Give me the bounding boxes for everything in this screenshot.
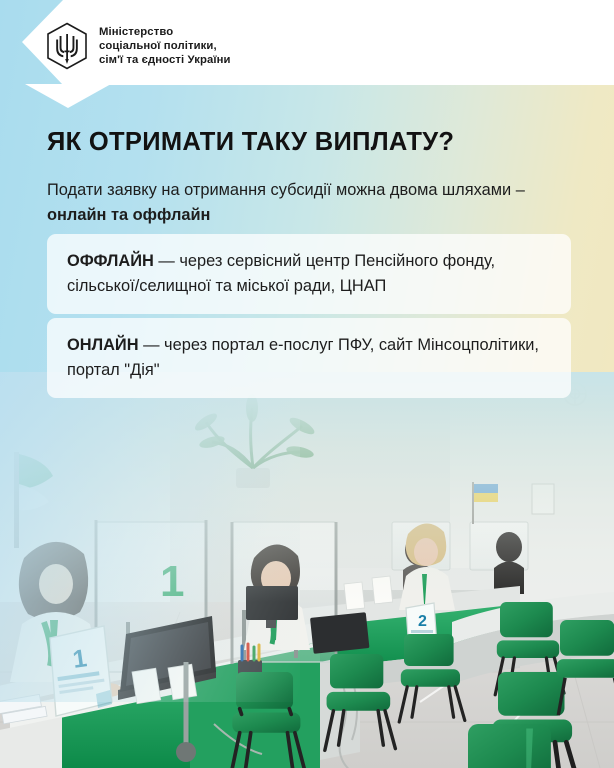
card-offline-lead: ОФФЛАЙН — [67, 252, 154, 270]
card-offline: ОФФЛАЙН — через сервісний центр Пенсійно… — [47, 234, 571, 314]
ministry-logo: Міністерство соціальної політики, сім'ї … — [46, 22, 231, 70]
header-banner-tab — [25, 84, 111, 108]
subtitle-plain: Подати заявку на отримання субсидії можн… — [47, 181, 525, 199]
service-center-photo: 1 — [0, 372, 614, 768]
ministry-name: Міністерство соціальної політики, сім'ї … — [99, 25, 231, 68]
card-online-lead: ОНЛАЙН — [67, 336, 139, 354]
svg-text:1: 1 — [160, 557, 184, 606]
subtitle-bold: онлайн та оффлайн — [47, 206, 210, 224]
subtitle: Подати заявку на отримання субсидії можн… — [47, 178, 567, 227]
card-online-body: — через портал е-послуг ПФУ, сайт Мінсоц… — [67, 336, 539, 379]
page-title: ЯК ОТРИМАТИ ТАКУ ВИПЛАТУ? — [47, 128, 454, 157]
ukrainian-trident-hexagon-emblem — [46, 22, 88, 70]
card-online: ОНЛАЙН — через портал е-послуг ПФУ, сайт… — [47, 318, 571, 398]
desk-sign-number-2: 2 — [418, 613, 427, 630]
poster: 1 — [0, 0, 614, 768]
